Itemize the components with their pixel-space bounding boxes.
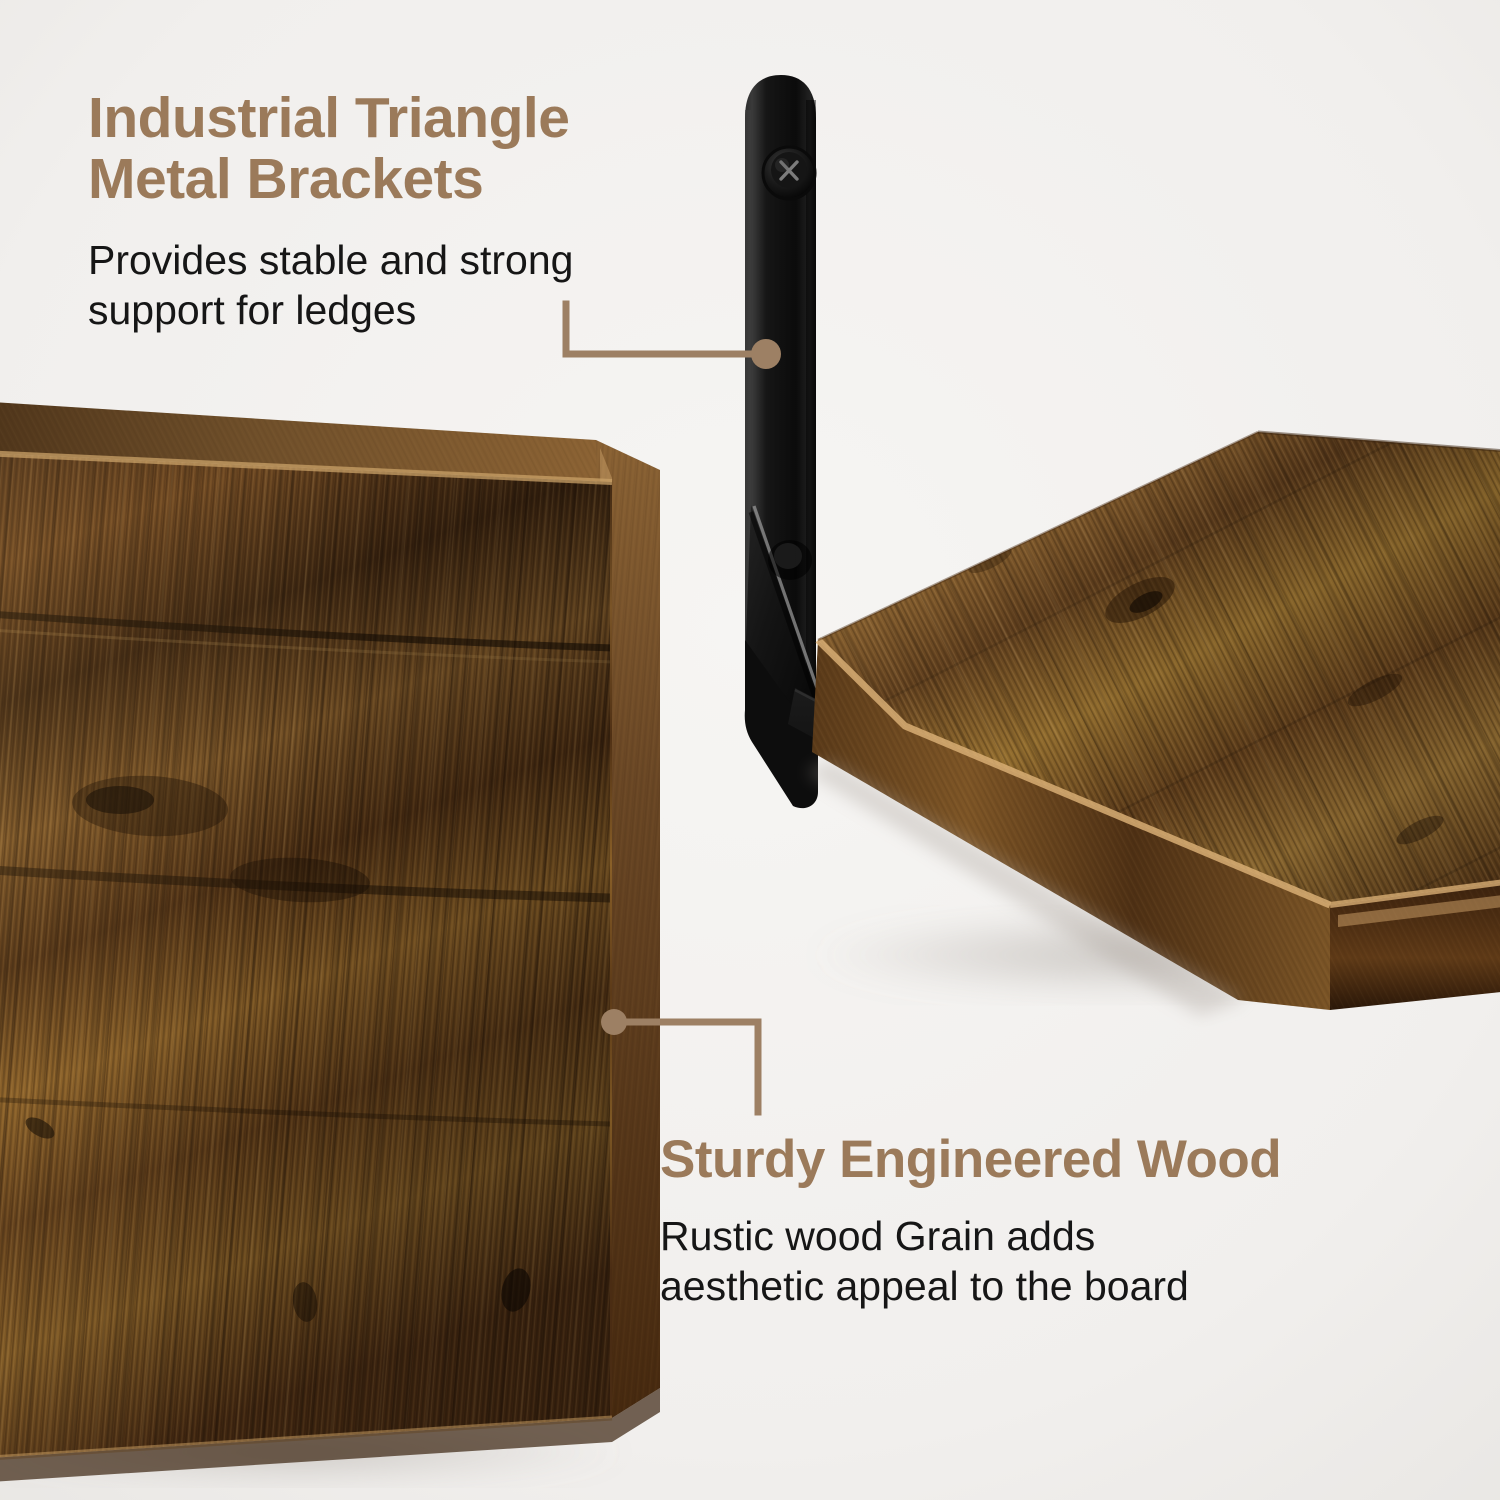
callout-wood-title: Sturdy Engineered Wood	[660, 1132, 1470, 1189]
leader-dot-board	[601, 1009, 627, 1035]
leader-dot-bracket	[751, 339, 781, 369]
callout-sturdy-wood: Sturdy Engineered Wood Rustic wood Grain…	[660, 1132, 1470, 1311]
callout-industrial-brackets: Industrial Triangle Metal Brackets Provi…	[88, 88, 748, 335]
infographic-canvas: Industrial Triangle Metal Brackets Provi…	[0, 0, 1500, 1500]
callout-brackets-subtitle: Provides stable and strong support for l…	[88, 235, 748, 335]
wood-board-front	[0, 400, 660, 1484]
bracket-screw	[763, 147, 815, 199]
callout-wood-subtitle: Rustic wood Grain adds aesthetic appeal …	[660, 1211, 1470, 1311]
callout-brackets-title: Industrial Triangle Metal Brackets	[88, 88, 748, 210]
